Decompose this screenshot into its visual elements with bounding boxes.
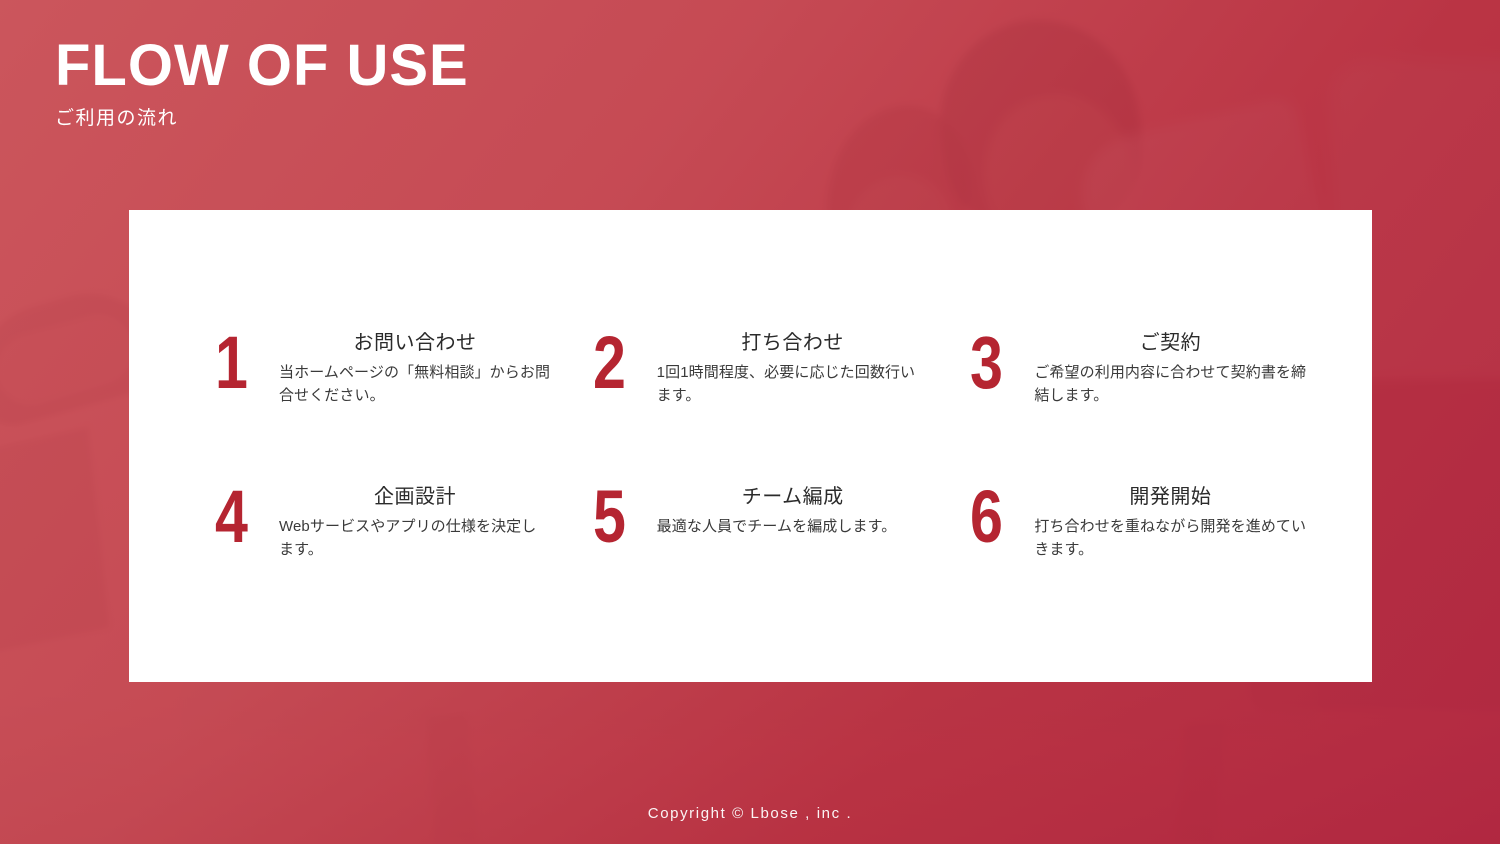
step-description-6: 打ち合わせを重ねながら開発を進めていきます。 <box>1034 515 1306 562</box>
step-item-6: 6 開発開始 打ち合わせを重ねながら開発を進めていきます。 <box>944 485 1312 562</box>
step-description-4: Webサービスやアプリの仕様を決定します。 <box>279 515 551 562</box>
step-title-1: お問い合わせ <box>279 331 551 355</box>
step-item-3: 3 ご契約 ご希望の利用内容に合わせて契約書を締結します。 <box>944 331 1312 408</box>
step-body-2: 打ち合わせ 1回1時間程度、必要に応じた回数行います。 <box>657 331 929 408</box>
step-description-3: ご希望の利用内容に合わせて契約書を締結します。 <box>1034 361 1306 408</box>
step-description-5: 最適な人員でチームを編成します。 <box>657 515 929 538</box>
step-number-1: 1 <box>215 333 252 394</box>
step-number-2: 2 <box>593 333 630 394</box>
step-body-4: 企画設計 Webサービスやアプリの仕様を決定します。 <box>279 485 551 562</box>
step-title-5: チーム編成 <box>657 485 929 509</box>
step-title-4: 企画設計 <box>279 485 551 509</box>
step-title-3: ご契約 <box>1034 331 1306 355</box>
step-item-1: 1 お問い合わせ 当ホームページの「無料相談」からお問合せください。 <box>189 331 557 408</box>
slide-root: FLOW OF USE ご利用の流れ 1 お問い合わせ 当ホームページの「無料相… <box>0 0 1500 844</box>
page-subtitle: ご利用の流れ <box>55 103 469 130</box>
step-item-4: 4 企画設計 Webサービスやアプリの仕様を決定します。 <box>189 485 557 562</box>
step-body-1: お問い合わせ 当ホームページの「無料相談」からお問合せください。 <box>279 331 551 408</box>
step-number-6: 6 <box>970 487 1007 548</box>
step-description-2: 1回1時間程度、必要に応じた回数行います。 <box>657 361 929 408</box>
steps-grid: 1 お問い合わせ 当ホームページの「無料相談」からお問合せください。 2 打ち合… <box>189 331 1312 562</box>
step-title-6: 開発開始 <box>1034 485 1306 509</box>
step-body-5: チーム編成 最適な人員でチームを編成します。 <box>657 485 929 538</box>
step-number-5: 5 <box>593 487 630 548</box>
step-number-4: 4 <box>215 487 252 548</box>
step-description-1: 当ホームページの「無料相談」からお問合せください。 <box>279 361 551 408</box>
slide-header: FLOW OF USE ご利用の流れ <box>55 36 469 130</box>
step-number-3: 3 <box>970 333 1007 394</box>
step-body-6: 開発開始 打ち合わせを重ねながら開発を進めていきます。 <box>1034 485 1306 562</box>
steps-card: 1 お問い合わせ 当ホームページの「無料相談」からお問合せください。 2 打ち合… <box>129 210 1372 682</box>
footer-copyright: Copyright © Lbose , inc . <box>0 805 1500 822</box>
page-title: FLOW OF USE <box>55 36 469 97</box>
step-body-3: ご契約 ご希望の利用内容に合わせて契約書を締結します。 <box>1034 331 1306 408</box>
step-item-2: 2 打ち合わせ 1回1時間程度、必要に応じた回数行います。 <box>567 331 935 408</box>
step-title-2: 打ち合わせ <box>657 331 929 355</box>
step-item-5: 5 チーム編成 最適な人員でチームを編成します。 <box>567 485 935 562</box>
